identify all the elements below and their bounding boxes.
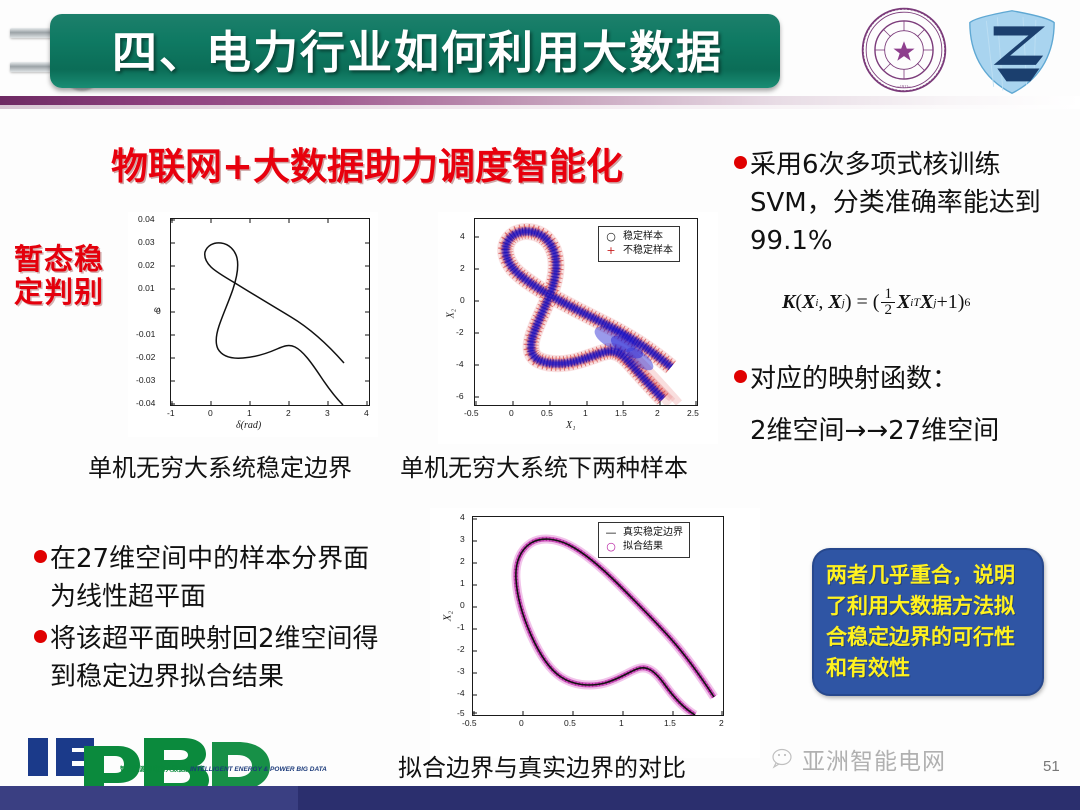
chart3-xtick-2: 0.5	[564, 718, 576, 728]
slide-header: 四、电力行业如何利用大数据 ~1911~	[0, 0, 1080, 112]
chart1-ytick-2: -0.02	[136, 352, 155, 362]
wechat-watermark-text: 亚洲智能电网	[802, 742, 946, 776]
chart1-ticks	[171, 219, 369, 405]
chart1-xtick-4: 3	[325, 408, 330, 418]
formula-power: 6	[964, 295, 970, 310]
chart3-ylabel: X₂	[441, 611, 453, 622]
bullet-dot-icon-4	[34, 630, 47, 643]
chart1-ytick-1: -0.03	[136, 375, 155, 385]
chart3-ytick-3: -2	[457, 644, 465, 654]
chart3-ytick-4: -1	[457, 622, 465, 632]
chart2-xlabel: X₁	[566, 420, 576, 431]
chart2-ytick-4: 2	[460, 263, 465, 273]
chart3-legend-marker-circle-icon: ○	[605, 540, 617, 554]
chart3-ytick-2: -3	[457, 666, 465, 676]
bottom-bullet-1: 在27维空间中的样本分界面为线性超平面	[34, 540, 379, 616]
chart3-xtick-4: 1.5	[664, 718, 676, 728]
chart3-legend-label-fit: 拟合结果	[623, 540, 663, 554]
chart3-ytick-8: 3	[460, 534, 465, 544]
chart3-legend-entry-fit: ○ 拟合结果	[605, 540, 683, 554]
bottom-bullet-1-text: 在27维空间中的样本分界面为线性超平面	[50, 540, 379, 616]
chart2-legend-entry-unstable: + 不稳定样本	[605, 244, 673, 258]
chart2-ytick-2: -2	[456, 327, 464, 337]
chart3-xtick-5: 2	[719, 718, 724, 728]
transient-stability-label: 暂态稳定判别	[14, 243, 124, 309]
chart3-xtick-1: 0	[519, 718, 524, 728]
lab-name-en: INTELLIGENT ENERGY & POWER BIG DATA	[190, 766, 327, 774]
header-divider-light	[0, 105, 1080, 109]
chart1-ylabel: ω	[154, 304, 160, 314]
chart2-xtick-3: 1	[583, 408, 588, 418]
chart1-xtick-0: -1	[167, 408, 175, 418]
slide-root: 四、电力行业如何利用大数据 ~1911~	[0, 0, 1080, 810]
chart2-xtick-0: -0.5	[464, 408, 479, 418]
formula-K: K	[782, 291, 795, 314]
chart3-xtick-0: -0.5	[462, 718, 477, 728]
bullet-dot-icon	[734, 156, 747, 169]
formula-eq: ) = (	[845, 291, 880, 314]
right-column-bullets: 采用6次多项式核训练SVM，分类准确率能达到99.1%	[734, 146, 1064, 264]
chart-stability-boundary: 0.04 0.03 0.02 0.01 0 -0.01 -0.02 -0.03 …	[128, 212, 378, 437]
right-bullet-1: 采用6次多项式核训练SVM，分类准确率能达到99.1%	[734, 146, 1064, 260]
formula-open-paren: (	[795, 291, 802, 314]
formula-comma: ,	[818, 291, 828, 314]
chart2-xtick-2: 0.5	[541, 408, 553, 418]
chart2-legend-label-stable: 稳定样本	[623, 230, 663, 244]
bottom-bullet-2: 将该超平面映射回2维空间得到稳定边界拟合结果	[34, 620, 379, 696]
formula-denominator: 2	[881, 303, 895, 318]
tsinghua-seal-icon: ~1911~	[860, 6, 948, 94]
footer-bar-accent	[0, 786, 298, 810]
right-bullet-1-text: 采用6次多项式核训练SVM，分类准确率能达到99.1%	[750, 146, 1064, 260]
right-column-bullets-2: 对应的映射函数： 2维空间→→27维空间	[734, 360, 1064, 450]
chart2-xtick-5: 2	[655, 408, 660, 418]
chart1-xtick-2: 1	[247, 408, 252, 418]
mapping-line-text: 2维空间→→27维空间	[750, 412, 1064, 450]
chart1-plot-area	[170, 218, 370, 406]
chart1-ytick-6: 0.02	[138, 260, 155, 270]
chart3-ytick-6: 1	[460, 578, 465, 588]
chart3-ytick-1: -4	[457, 688, 465, 698]
slide-title: 物联网+大数据助力调度智能化	[52, 136, 682, 190]
header-logos: ~1911~	[860, 4, 1070, 100]
chart3-ytick-7: 2	[460, 556, 465, 566]
formula-X2: X	[828, 291, 841, 314]
formula-plus-one: +1)	[936, 291, 964, 314]
right-bullet-2-text: 对应的映射函数：	[750, 360, 958, 398]
formula-fraction: 1 2	[881, 287, 895, 318]
chart3-ytick-0: -5	[457, 708, 465, 718]
chart-two-sample-types: ○ 稳定样本 + 不稳定样本 4 2 0 -2 -4 -6 -0.5 0 0.5…	[438, 212, 718, 444]
formula-X1: X	[802, 291, 815, 314]
chart2-xtick-6: 2.5	[687, 408, 699, 418]
chart3-xtick-3: 1	[619, 718, 624, 728]
chart1-xlabel: δ(rad)	[236, 420, 261, 431]
formula-numerator: 1	[881, 287, 895, 303]
chart2-xtick-1: 0	[509, 408, 514, 418]
formula-X3: X	[897, 291, 910, 314]
chart2-legend-entry-stable: ○ 稳定样本	[605, 230, 673, 244]
chart3-legend-marker-line-icon: —	[605, 526, 617, 540]
chart2-ytick-0: -6	[456, 391, 464, 401]
conclusion-callout: 两者几乎重合，说明了利用大数据方法拟合稳定边界的可行性和有效性	[812, 548, 1044, 696]
chart1-ytick-5: 0.01	[138, 283, 155, 293]
chart1-xtick-5: 4	[364, 408, 369, 418]
chart2-legend-label-unstable: 不稳定样本	[623, 244, 673, 258]
chart1-ytick-0: -0.04	[136, 398, 155, 408]
kernel-formula: K ( Xi , Xj ) = ( 1 2 XiT Xj +1)6	[782, 287, 970, 318]
conclusion-callout-text: 两者几乎重合，说明了利用大数据方法拟合稳定边界的可行性和有效性	[826, 560, 1030, 684]
chart2-legend: ○ 稳定样本 + 不稳定样本	[598, 226, 680, 262]
chart3-legend-label-true: 真实稳定边界	[623, 526, 683, 540]
chart1-xtick-3: 2	[286, 408, 291, 418]
section-title-text: 四、电力行业如何利用大数据	[112, 20, 723, 86]
chart1-caption: 单机无穷大系统稳定边界	[88, 448, 352, 483]
chart1-ytick-7: 0.03	[138, 237, 155, 247]
formula-X4: X	[920, 291, 933, 314]
bottom-bullet-2-text: 将该超平面映射回2维空间得到稳定边界拟合结果	[50, 620, 379, 696]
chart3-legend: — 真实稳定边界 ○ 拟合结果	[598, 522, 690, 558]
lab-logo	[22, 728, 292, 790]
chart2-caption: 单机无穷大系统下两种样本	[400, 448, 688, 483]
chart3-ytick-9: 4	[460, 512, 465, 522]
chart2-ytick-5: 4	[460, 231, 465, 241]
chart2-legend-marker-circle-icon: ○	[605, 230, 617, 244]
iepbd-logo-icon	[22, 728, 292, 790]
blue-shield-logo-icon	[966, 8, 1058, 96]
chart1-xtick-1: 0	[208, 408, 213, 418]
bullet-dot-icon-2	[734, 370, 747, 383]
section-title-banner: 四、电力行业如何利用大数据	[50, 14, 780, 88]
wechat-icon	[772, 748, 798, 770]
bottom-left-bullets: 在27维空间中的样本分界面为线性超平面 将该超平面映射回2维空间得到稳定边界拟合…	[34, 540, 379, 700]
chart3-legend-entry-true: — 真实稳定边界	[605, 526, 683, 540]
page-number: 51	[1043, 758, 1060, 775]
chart2-legend-marker-plus-icon: +	[605, 244, 617, 258]
chart2-xtick-4: 1.5	[615, 408, 627, 418]
chart2-ytick-1: -4	[456, 359, 464, 369]
wechat-watermark: 亚洲智能电网	[772, 742, 1022, 776]
chart3-caption: 拟合边界与真实边界的对比	[398, 748, 686, 783]
chart1-ytick-8: 0.04	[138, 214, 155, 224]
chart2-ytick-3: 0	[460, 295, 465, 305]
bullet-dot-icon-3	[34, 550, 47, 563]
header-divider-purple	[0, 96, 1080, 105]
chart3-ytick-5: 0	[460, 600, 465, 610]
chart2-ylabel: X₂	[445, 309, 456, 319]
svg-text:~1911~: ~1911~	[897, 84, 911, 89]
right-bullet-2: 对应的映射函数：	[734, 360, 1064, 398]
chart-boundary-comparison: — 真实稳定边界 ○ 拟合结果 4 3 2 1 0 -1 -2 -3 -4 -5…	[430, 508, 760, 758]
chart1-ytick-3: -0.01	[136, 329, 155, 339]
